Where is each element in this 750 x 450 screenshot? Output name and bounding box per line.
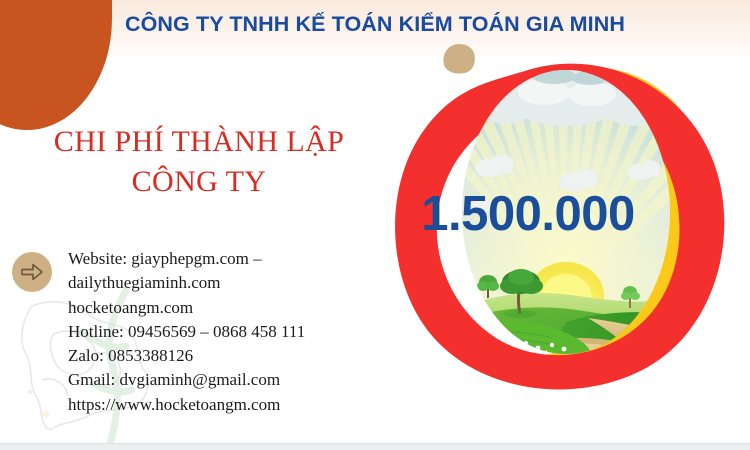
bottom-strip	[0, 443, 750, 450]
page-title: CÔNG TY TNHH KẾ TOÁN KIỂM TOÁN GIA MINH	[0, 12, 750, 37]
contact-gmail: Gmail: dvgiaminh@gmail.com	[68, 368, 388, 392]
contact-website-line-2: dailythuegiaminh.com	[68, 271, 388, 295]
contact-hotline: Hotline: 09456569 – 0868 458 111	[68, 320, 388, 344]
main-heading-line-1: CHI PHÍ THÀNH LẬP	[24, 122, 374, 162]
slide-canvas: CÔNG TY TNHH KẾ TOÁN KIỂM TOÁN GIA MINH …	[0, 0, 750, 450]
contact-website-line-3: hocketoangm.com	[68, 296, 388, 320]
contact-zalo: Zalo: 0853388126	[68, 344, 388, 368]
contact-url: https://www.hocketoangm.com	[68, 393, 388, 417]
contact-website-line-1: Website: giayphepgm.com –	[68, 247, 388, 271]
arrow-right-icon	[12, 252, 52, 292]
main-heading: CHI PHÍ THÀNH LẬP CÔNG TY	[24, 122, 374, 202]
main-heading-line-2: CÔNG TY	[24, 162, 374, 202]
contact-block: Website: giayphepgm.com – dailythuegiami…	[68, 247, 388, 417]
price-amount: 1.500.000	[378, 186, 678, 242]
